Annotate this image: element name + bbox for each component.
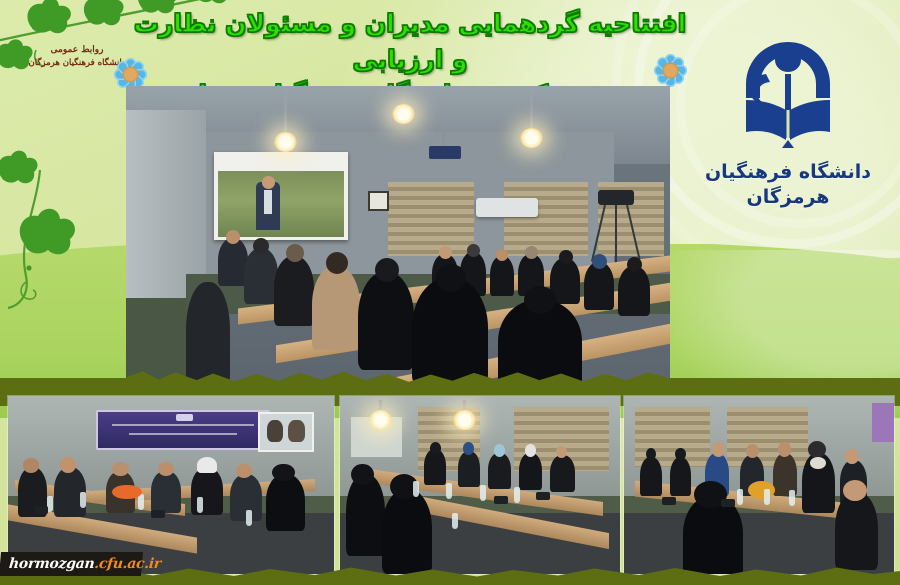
- main-photo: [126, 86, 670, 386]
- url-tld: .cfu.ac.ir: [94, 556, 162, 572]
- wall-clock-icon: [368, 191, 389, 211]
- logo-institution-line-2: هرمزگان: [698, 185, 878, 210]
- university-logo: دانشگاه فرهنگیان هرمزگان: [698, 14, 878, 229]
- website-url-badge[interactable]: hormozgan.cfu.ac.ir: [0, 552, 143, 576]
- logo-institution-text: دانشگاه فرهنگیان هرمزگان: [698, 160, 878, 211]
- url-domain-name: hormozgan: [8, 556, 95, 572]
- poster-canvas: افتتاحیه گردهمایی مدیران و مسئولان نظارت…: [0, 0, 900, 585]
- air-conditioner-icon: [476, 198, 538, 217]
- bottom-photo-1: [8, 396, 334, 574]
- university-emblem-icon: [722, 14, 854, 154]
- video-camera-tripod-icon: [596, 190, 638, 264]
- bottom-photo-2: [340, 396, 620, 574]
- title-line-1: افتتاحیه گردهمایی مدیران و مسئولان نظارت…: [134, 9, 686, 74]
- conference-hall-scene: [126, 86, 670, 386]
- projector-icon: [429, 146, 461, 159]
- logo-institution-line-1: دانشگاه فرهنگیان: [698, 160, 878, 185]
- flower-rosette-icon: [652, 52, 688, 88]
- bottom-photo-3: [624, 396, 894, 574]
- wall-portrait: [258, 412, 314, 452]
- event-banner: [96, 410, 270, 450]
